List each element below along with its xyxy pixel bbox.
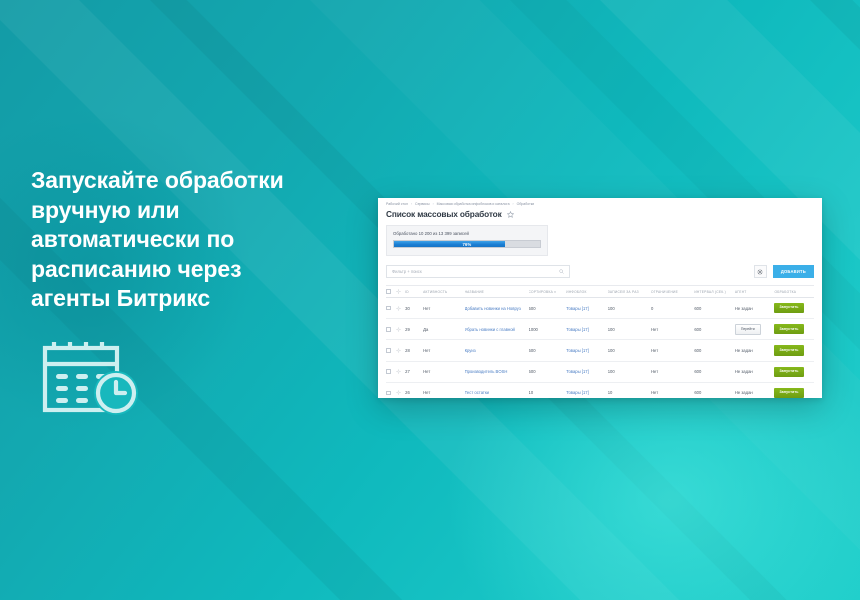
- row-infoblock[interactable]: Товары [17]: [566, 306, 607, 311]
- column-header-action[interactable]: ОБРАБОТКА: [774, 290, 814, 294]
- row-sort: 10: [529, 390, 567, 395]
- row-interval: 600: [694, 306, 735, 311]
- breadcrumb-separator: ›: [433, 202, 434, 206]
- row-run-button[interactable]: Запустить: [774, 324, 803, 334]
- row-interval: 600: [694, 390, 735, 395]
- row-checkbox[interactable]: [386, 369, 396, 374]
- progress-card: Обработано 10 200 из 13 399 записей 76%: [386, 225, 548, 256]
- row-id: 28: [405, 348, 423, 353]
- calendar-clock-icon: [40, 335, 144, 415]
- row-name[interactable]: Производитель BOSH: [465, 369, 529, 374]
- search-placeholder: Фильтр + поиск: [392, 269, 422, 274]
- row-agent-goto-button[interactable]: Перейти: [735, 324, 761, 336]
- row-limit: Нет: [651, 327, 694, 332]
- row-interval: 600: [694, 327, 735, 332]
- star-icon[interactable]: [507, 211, 514, 218]
- table-row[interactable]: 30НетДобавить новинки на Новруз500Товары…: [386, 298, 814, 319]
- app-screenshot-panel: Рабочий стол › Сервисы › Массовая обрабо…: [378, 198, 822, 398]
- row-per-run: 100: [608, 348, 651, 353]
- row-infoblock[interactable]: Товары [17]: [566, 327, 607, 332]
- row-checkbox[interactable]: [386, 327, 396, 332]
- row-action: Запустить: [774, 367, 814, 377]
- search-input[interactable]: Фильтр + поиск: [386, 265, 570, 278]
- row-agent: Перейти: [735, 324, 775, 336]
- row-agent: Не задан: [735, 306, 775, 311]
- row-agent: Не задан: [735, 369, 775, 374]
- row-active: Нет: [423, 390, 464, 395]
- row-per-run: 100: [608, 369, 651, 374]
- breadcrumb-item-1[interactable]: Сервисы: [415, 202, 430, 206]
- row-action: Запустить: [774, 388, 814, 398]
- row-action: Запустить: [774, 345, 814, 355]
- gear-icon[interactable]: [754, 265, 767, 278]
- row-action: Запустить: [774, 303, 814, 313]
- row-name[interactable]: Добавить новинки на Новруз: [465, 306, 529, 311]
- row-infoblock[interactable]: Товары [17]: [566, 369, 607, 374]
- row-limit: Нет: [651, 348, 694, 353]
- row-checkbox[interactable]: [386, 306, 396, 311]
- row-name[interactable]: Тест остатки: [465, 390, 529, 395]
- table-row[interactable]: 28НетКруиз500Товары [17]100Нет600Не зада…: [386, 340, 814, 361]
- row-menu-icon[interactable]: [396, 369, 406, 374]
- table-row[interactable]: 27НетПроизводитель BOSH500Товары [17]100…: [386, 362, 814, 383]
- column-header-name[interactable]: НАЗВАНИЕ: [465, 290, 529, 294]
- table-row[interactable]: 29ДаУбрать новинки с главной1000Товары […: [386, 319, 814, 340]
- column-header-agent[interactable]: АГЕНТ: [735, 290, 775, 294]
- add-button[interactable]: ДОБАВИТЬ: [773, 265, 814, 278]
- row-active: Нет: [423, 348, 464, 353]
- breadcrumb-separator: ›: [513, 202, 514, 206]
- column-header-infoblock[interactable]: ИНФОБЛОК: [566, 290, 607, 294]
- select-all-checkbox[interactable]: [386, 289, 396, 294]
- promo-banner: Запускайте обработки вручную или автомат…: [0, 0, 860, 600]
- breadcrumb-separator: ›: [411, 202, 412, 206]
- row-name[interactable]: Круиз: [465, 348, 529, 353]
- breadcrumb-item-0[interactable]: Рабочий стол: [386, 202, 408, 206]
- column-header-per-run[interactable]: ЗАПИСЕЙ ЗА РАЗ: [608, 290, 651, 294]
- row-id: 26: [405, 390, 423, 395]
- row-infoblock[interactable]: Товары [17]: [566, 348, 607, 353]
- row-limit: 0: [651, 306, 694, 311]
- breadcrumb: Рабочий стол › Сервисы › Массовая обрабо…: [378, 198, 822, 206]
- row-name[interactable]: Убрать новинки с главной: [465, 327, 529, 332]
- breadcrumb-item-3[interactable]: Обработки: [517, 202, 535, 206]
- column-header-active[interactable]: АКТИВНОСТЬ: [423, 290, 464, 294]
- row-run-button[interactable]: Запустить: [774, 388, 803, 398]
- row-id: 29: [405, 327, 423, 332]
- row-sort: 500: [529, 306, 567, 311]
- table-row[interactable]: 26НетТест остатки10Товары [17]10Нет600Не…: [386, 383, 814, 398]
- row-limit: Нет: [651, 369, 694, 374]
- page-title-row: Список массовых обработок: [378, 206, 822, 219]
- row-interval: 600: [694, 348, 735, 353]
- row-run-button[interactable]: Запустить: [774, 345, 803, 355]
- column-header-id[interactable]: ID: [405, 290, 423, 294]
- row-run-button[interactable]: Запустить: [774, 303, 803, 313]
- table-body: 30НетДобавить новинки на Новруз500Товары…: [386, 298, 814, 398]
- column-header-interval[interactable]: ИНТЕРВАЛ (СЕК.): [694, 290, 735, 294]
- column-header-sort[interactable]: СОРТИРОВКА ▾: [529, 290, 567, 294]
- breadcrumb-item-2[interactable]: Массовая обработка инфоблоков и каталога: [437, 202, 510, 206]
- row-active: Нет: [423, 369, 464, 374]
- row-limit: Нет: [651, 390, 694, 395]
- progress-bar: 76%: [393, 240, 541, 248]
- sort-caret-icon: ▾: [554, 290, 556, 294]
- toolbar: Фильтр + поиск ДОБАВИТЬ: [386, 265, 814, 278]
- row-sort: 500: [529, 348, 567, 353]
- row-infoblock[interactable]: Товары [17]: [566, 390, 607, 395]
- column-header-sort-label: СОРТИРОВКА: [529, 290, 554, 294]
- row-sort: 1000: [529, 327, 567, 332]
- row-agent: Не задан: [735, 348, 775, 353]
- row-sort: 500: [529, 369, 567, 374]
- row-menu-icon[interactable]: [396, 390, 406, 395]
- row-menu-icon[interactable]: [396, 348, 406, 353]
- column-settings-icon[interactable]: [396, 289, 406, 294]
- progress-label: Обработано 10 200 из 13 399 записей: [393, 231, 541, 236]
- row-per-run: 100: [608, 327, 651, 332]
- row-per-run: 10: [608, 390, 651, 395]
- row-menu-icon[interactable]: [396, 306, 406, 311]
- row-interval: 600: [694, 369, 735, 374]
- row-per-run: 100: [608, 306, 651, 311]
- row-agent: Не задан: [735, 390, 775, 395]
- row-id: 30: [405, 306, 423, 311]
- processing-table: ID АКТИВНОСТЬ НАЗВАНИЕ СОРТИРОВКА ▾ ИНФО…: [386, 285, 814, 398]
- row-active: Нет: [423, 306, 464, 311]
- row-run-button[interactable]: Запустить: [774, 367, 803, 377]
- row-checkbox[interactable]: [386, 391, 396, 396]
- progress-percent-label: 76%: [394, 241, 540, 247]
- row-checkbox[interactable]: [386, 348, 396, 353]
- row-active: Да: [423, 327, 464, 332]
- column-header-limit[interactable]: ОГРАНИЧЕНИЕ: [651, 290, 694, 294]
- hero-headline: Запускайте обработки вручную или автомат…: [31, 166, 331, 314]
- row-id: 27: [405, 369, 423, 374]
- table-header-row: ID АКТИВНОСТЬ НАЗВАНИЕ СОРТИРОВКА ▾ ИНФО…: [386, 286, 814, 298]
- row-menu-icon[interactable]: [396, 327, 406, 332]
- page-title: Список массовых обработок: [386, 209, 502, 219]
- row-action: Запустить: [774, 324, 814, 334]
- search-icon[interactable]: [559, 269, 564, 274]
